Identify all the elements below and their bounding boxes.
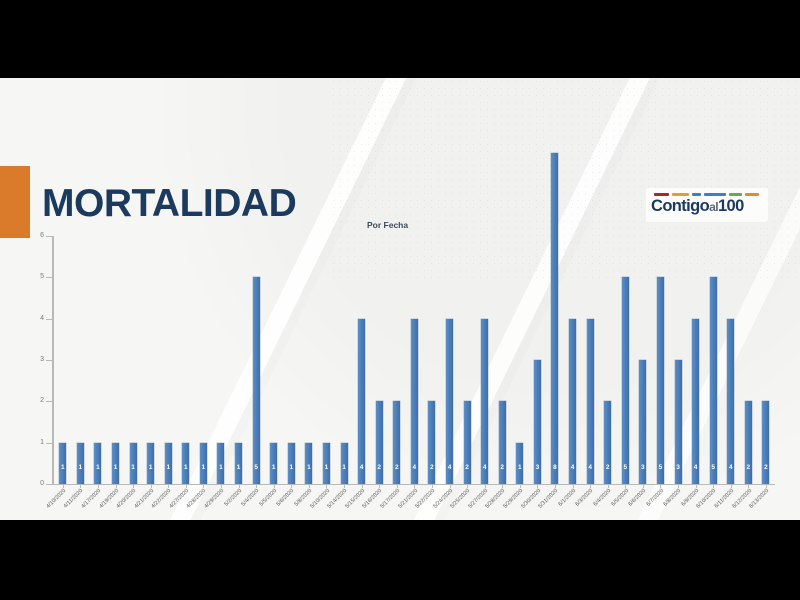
bar[interactable]: 2 [376,401,383,484]
y-tick-label: 0 [30,480,44,487]
bar[interactable]: 1 [235,443,242,484]
logo-dash-0 [654,193,669,196]
mortality-bar-chart: 0123456 11111111111511111422424242138442… [30,236,775,491]
orange-accent-block [0,166,30,238]
chart-column: 3 [529,236,547,484]
logo-dash-1 [672,193,689,196]
bar-value-label: 2 [377,465,381,472]
logo-word-contigo: Contigo [651,197,709,215]
x-tick-label: 6/7/2020 [645,488,665,508]
chart-column: 2 [740,236,758,484]
contigo-al-100-logo: Contigoal100 [646,188,768,222]
chart-column: 1 [230,236,248,484]
page-title: MORTALIDAD [42,182,296,226]
bar[interactable]: 1 [130,443,137,484]
letterbox-top [0,0,800,78]
chart-column: 4 [476,236,494,484]
bar-value-label: 5 [623,465,627,472]
logo-dash-4 [729,193,742,196]
bar-value-label: 3 [641,465,645,472]
bar[interactable]: 1 [94,443,101,484]
bar[interactable]: 1 [217,443,224,484]
bar-value-label: 3 [536,465,540,472]
chart-column: 1 [283,236,301,484]
bar-value-label: 2 [465,465,469,472]
y-tick-label: 5 [30,273,44,280]
logo-text: Contigoal100 [651,197,765,216]
bar[interactable]: 4 [446,319,453,484]
y-tick [46,277,54,278]
bar-value-label: 1 [219,465,223,472]
bar[interactable]: 1 [77,443,84,484]
bar[interactable]: 4 [481,319,488,484]
chart-column: 1 [177,236,195,484]
x-tick-label: 6/8/2020 [663,488,683,508]
bar[interactable]: 1 [270,443,277,484]
y-tick-label: 2 [30,397,44,404]
chart-column: 2 [388,236,406,484]
chart-column: 1 [124,236,142,484]
letterbox-bottom [0,520,800,600]
bar-value-label: 4 [483,465,487,472]
chart-column: 1 [72,236,90,484]
chart-column: 5 [617,236,635,484]
bar-value-label: 4 [360,465,364,472]
bar[interactable]: 5 [622,277,629,484]
y-tick-label: 4 [30,315,44,322]
chart-column: 1 [159,236,177,484]
y-tick-label: 1 [30,439,44,446]
bar-value-label: 8 [553,465,557,472]
bar-value-label: 1 [307,465,311,472]
chart-plot-area: 1111111111151111142242424213844253534542… [54,236,775,484]
x-axis-line [54,484,775,485]
chart-column: 2 [370,236,388,484]
bar[interactable]: 1 [112,443,119,484]
x-tick-label: 6/5/2020 [610,488,630,508]
logo-dash-2 [692,193,701,196]
bar-value-label: 1 [79,465,83,472]
presentation-slide: MORTALIDAD Por Fecha Contigoal100 012345… [0,78,800,520]
chart-column: 1 [335,236,353,484]
chart-column: 1 [212,236,230,484]
x-tick-label: 6/3/2020 [575,488,595,508]
chart-column: 5 [704,236,722,484]
bar[interactable]: 3 [534,360,541,484]
chart-column: 2 [493,236,511,484]
bar[interactable]: 5 [253,277,260,484]
bar-value-label: 5 [254,465,258,472]
x-tick-label: 6/4/2020 [593,488,613,508]
logo-word-al: al [709,200,718,214]
chart-column: 1 [54,236,72,484]
bar-value-label: 4 [448,465,452,472]
chart-column: 4 [353,236,371,484]
y-tick-label: 3 [30,356,44,363]
chart-column: 1 [265,236,283,484]
bar-value-label: 1 [202,465,206,472]
chart-column: 3 [669,236,687,484]
bar[interactable]: 1 [59,443,66,484]
bar-value-label: 1 [184,465,188,472]
y-tick [46,484,54,485]
chart-subtitle: Por Fecha [367,220,408,230]
bar-value-label: 4 [571,465,575,472]
chart-column: 1 [318,236,336,484]
x-axis-labels: 4/10/20204/11/20204/17/20204/19/20204/20… [54,488,775,520]
bar[interactable]: 2 [604,401,611,484]
bar-value-label: 2 [747,465,751,472]
bar-value-label: 2 [500,465,504,472]
chart-column: 4 [406,236,424,484]
bar-value-label: 1 [131,465,135,472]
bar[interactable]: 1 [200,443,207,484]
bar-value-label: 1 [518,465,522,472]
y-tick [46,360,54,361]
bar-value-label: 1 [342,465,346,472]
bar-value-label: 1 [237,465,241,472]
x-tick-label: 5/6/2020 [276,488,296,508]
logo-word-100: 100 [718,197,744,215]
bar[interactable]: 4 [569,319,576,484]
chart-column: 1 [195,236,213,484]
bar[interactable]: 2 [464,401,471,484]
bar[interactable]: 4 [411,319,418,484]
x-tick-label: 5/4/2020 [241,488,261,508]
bar[interactable]: 2 [745,401,752,484]
bar-value-label: 4 [413,465,417,472]
bar[interactable]: 4 [692,319,699,484]
bar[interactable]: 1 [305,443,312,484]
bar-value-label: 1 [166,465,170,472]
bar[interactable]: 1 [323,443,330,484]
y-tick [46,236,54,237]
chart-column: 2 [458,236,476,484]
bar-value-label: 1 [325,465,329,472]
bar[interactable]: 1 [516,443,523,484]
bar-value-label: 4 [588,465,592,472]
y-tick [46,443,54,444]
bar[interactable]: 3 [639,360,646,484]
bar[interactable]: 1 [288,443,295,484]
bar[interactable]: 2 [428,401,435,484]
chart-column: 3 [634,236,652,484]
bar[interactable]: 5 [657,277,664,484]
chart-column: 4 [441,236,459,484]
bar[interactable]: 2 [393,401,400,484]
y-tick [46,319,54,320]
bar[interactable]: 1 [165,443,172,484]
chart-column: 2 [757,236,775,484]
bar-value-label: 1 [149,465,153,472]
bar[interactable]: 4 [727,319,734,484]
bar-value-label: 1 [272,465,276,472]
chart-column: 5 [247,236,265,484]
bar[interactable]: 1 [147,443,154,484]
chart-column: 1 [142,236,160,484]
chart-column: 4 [687,236,705,484]
bar[interactable]: 8 [551,153,558,484]
bar-value-label: 1 [61,465,65,472]
chart-column: 8 [546,236,564,484]
bar[interactable]: 1 [182,443,189,484]
x-tick-label: 6/6/2020 [628,488,648,508]
bar-value-label: 2 [764,465,768,472]
chart-column: 1 [107,236,125,484]
y-tick-label: 6 [30,232,44,239]
chart-column: 5 [652,236,670,484]
bar[interactable]: 2 [499,401,506,484]
x-tick-label: 5/5/2020 [258,488,278,508]
bar[interactable]: 4 [358,319,365,484]
bar-value-label: 1 [114,465,118,472]
chart-column: 2 [423,236,441,484]
bar-value-label: 3 [676,465,680,472]
bar-value-label: 2 [606,465,610,472]
bar-value-label: 1 [96,465,100,472]
logo-dash-3 [704,193,726,196]
bar-value-label: 2 [430,465,434,472]
bar[interactable]: 1 [341,443,348,484]
x-tick-label: 6/1/2020 [557,488,577,508]
chart-column: 4 [564,236,582,484]
chart-column: 4 [722,236,740,484]
bar[interactable]: 3 [675,360,682,484]
bar-value-label: 1 [289,465,293,472]
chart-column: 1 [300,236,318,484]
bar-value-label: 2 [395,465,399,472]
chart-column: 2 [599,236,617,484]
bar[interactable]: 5 [710,277,717,484]
bar-value-label: 5 [659,465,663,472]
bar-value-label: 4 [729,465,733,472]
bar-value-label: 4 [694,465,698,472]
chart-column: 1 [89,236,107,484]
chart-column: 1 [511,236,529,484]
chart-column: 4 [581,236,599,484]
y-tick [46,401,54,402]
logo-dash-5 [745,193,759,196]
bar[interactable]: 2 [762,401,769,484]
bar[interactable]: 4 [587,319,594,484]
bar-value-label: 5 [711,465,715,472]
x-tick-label: 5/2/2020 [223,488,243,508]
